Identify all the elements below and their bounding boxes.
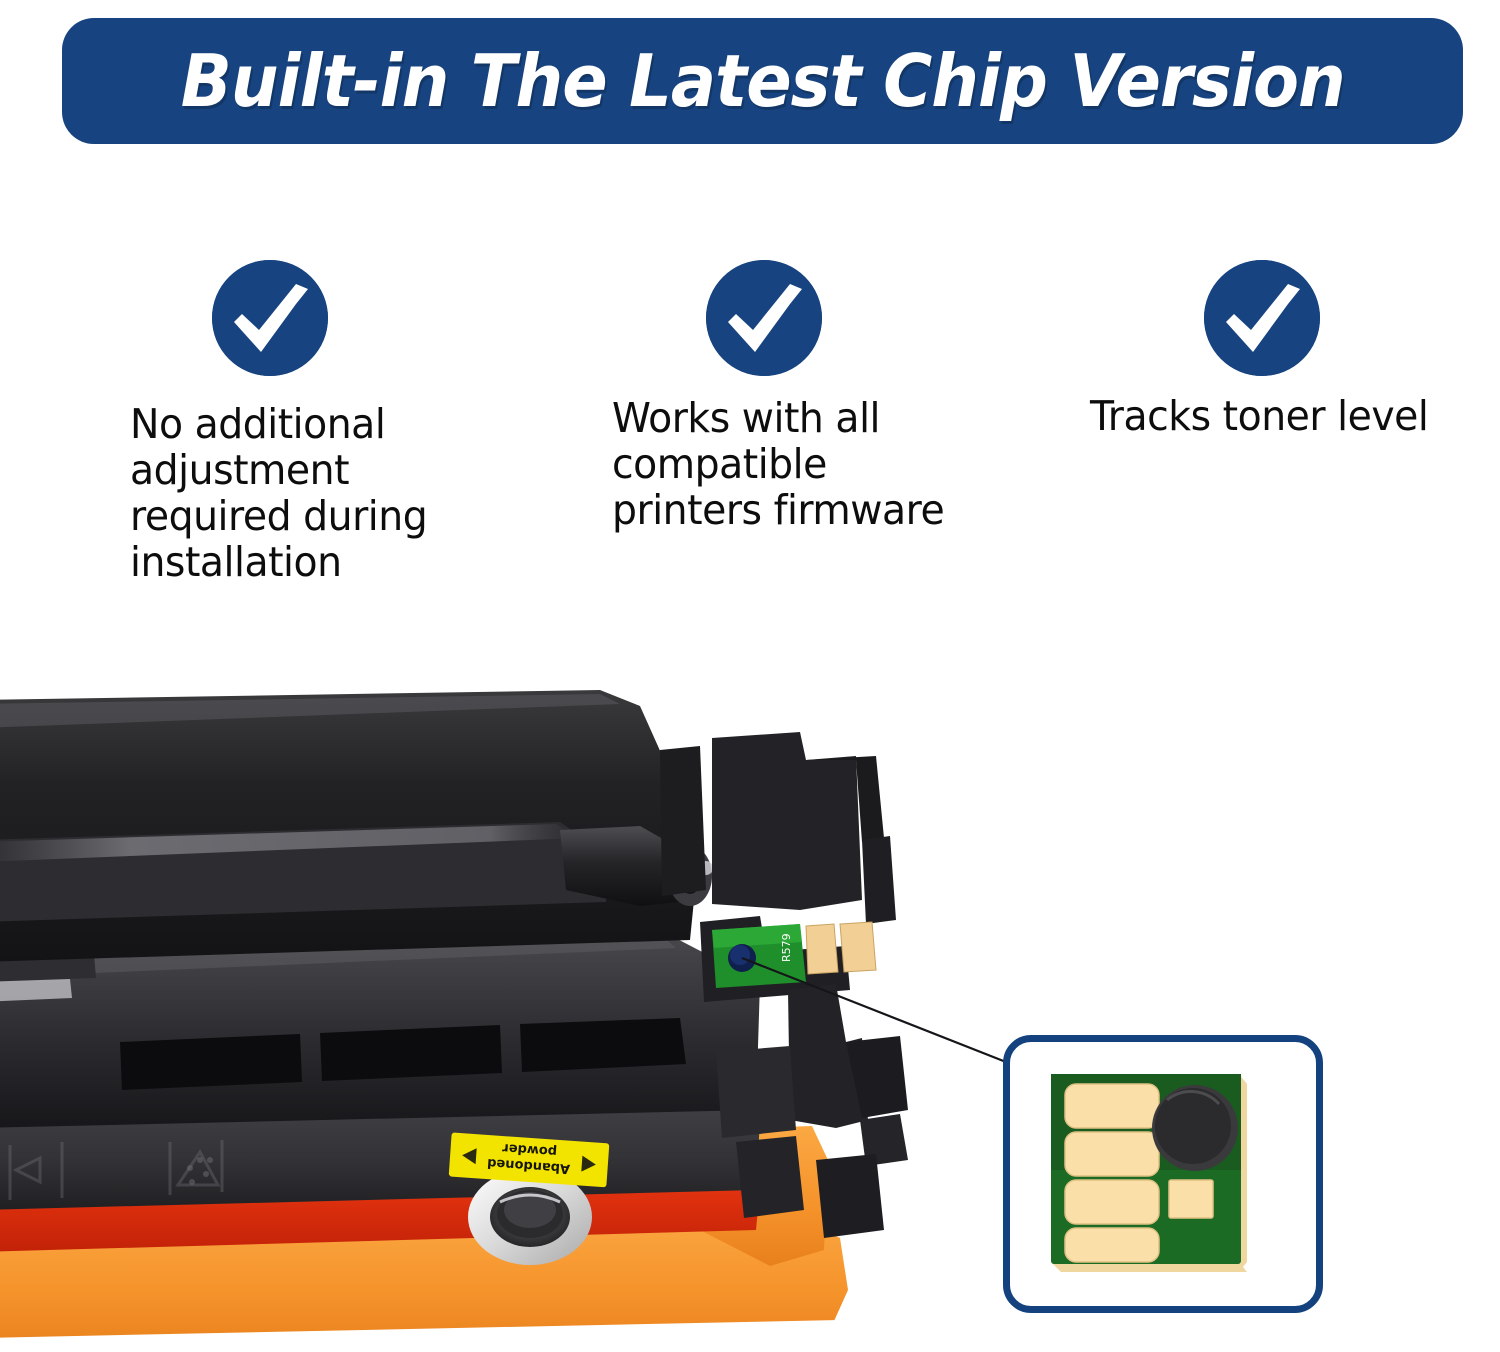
feature-line: installation xyxy=(130,540,524,586)
feature-line: compatible xyxy=(612,442,1023,488)
feature-line: adjustment xyxy=(130,448,524,494)
feature-item-no-adjustment: No additional adjustment required during… xyxy=(120,260,540,586)
feature-line: printers firmware xyxy=(612,488,1023,534)
feature-list: No additional adjustment required during… xyxy=(0,260,1500,660)
check-circle-icon xyxy=(706,260,822,376)
svg-text:R579: R579 xyxy=(780,933,793,962)
chip-zoom-callout xyxy=(1003,1035,1323,1313)
feature-item-label: Works with all compatible printers firmw… xyxy=(612,396,1023,534)
feature-line: required during xyxy=(130,494,524,540)
banner-title: Built-in The Latest Chip Version xyxy=(181,39,1345,123)
feature-item-label: No additional adjustment required during… xyxy=(130,402,524,586)
chip-enlarged-icon xyxy=(1043,1066,1255,1282)
feature-line: Tracks toner level xyxy=(1090,394,1484,440)
feature-item-toner-level: Tracks toner level xyxy=(1080,260,1500,440)
feature-line: Works with all xyxy=(612,396,1023,442)
feature-item-firmware: Works with all compatible printers firmw… xyxy=(600,260,1040,534)
feature-item-label: Tracks toner level xyxy=(1090,394,1484,440)
header-banner: Built-in The Latest Chip Version xyxy=(62,18,1463,144)
check-circle-icon xyxy=(212,260,328,376)
feature-line: No additional xyxy=(130,402,524,448)
check-circle-icon xyxy=(1204,260,1320,376)
